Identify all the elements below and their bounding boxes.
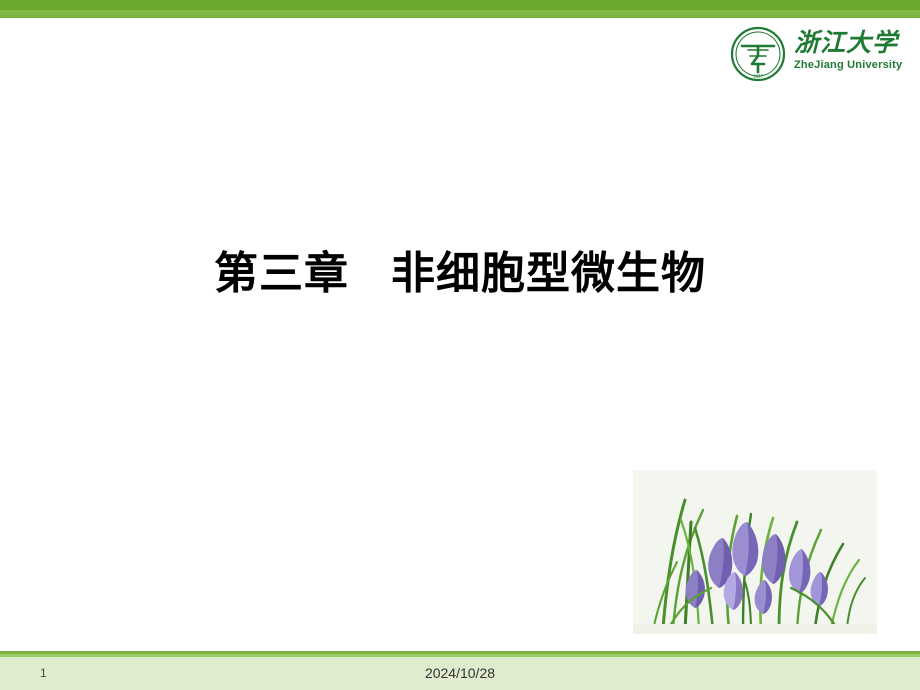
- top-accent-bar-dark: [0, 0, 920, 10]
- zhejiang-university-emblem-icon: 1897: [730, 26, 786, 82]
- university-name-english: ZheJiang University: [794, 58, 902, 72]
- university-logo: 1897 浙江大学 ZheJiang University: [730, 26, 902, 82]
- university-name-chinese: 浙江大学: [794, 28, 902, 58]
- slide-title-topic: 非细胞型微生物: [391, 248, 706, 299]
- top-bar-separator: [0, 18, 920, 22]
- university-name: 浙江大学 ZheJiang University: [794, 28, 902, 80]
- slide-title: 第三章非细胞型微生物: [0, 246, 920, 302]
- flower-image: [633, 470, 877, 634]
- footer-accent-stripe: [0, 654, 920, 657]
- presentation-slide: 1897 浙江大学 ZheJiang University 第三章非细胞型微生物: [0, 0, 920, 690]
- slide-date: 2024/10/28: [0, 664, 920, 682]
- slide-title-chapter: 第三章: [214, 248, 349, 299]
- svg-text:1897: 1897: [753, 74, 764, 79]
